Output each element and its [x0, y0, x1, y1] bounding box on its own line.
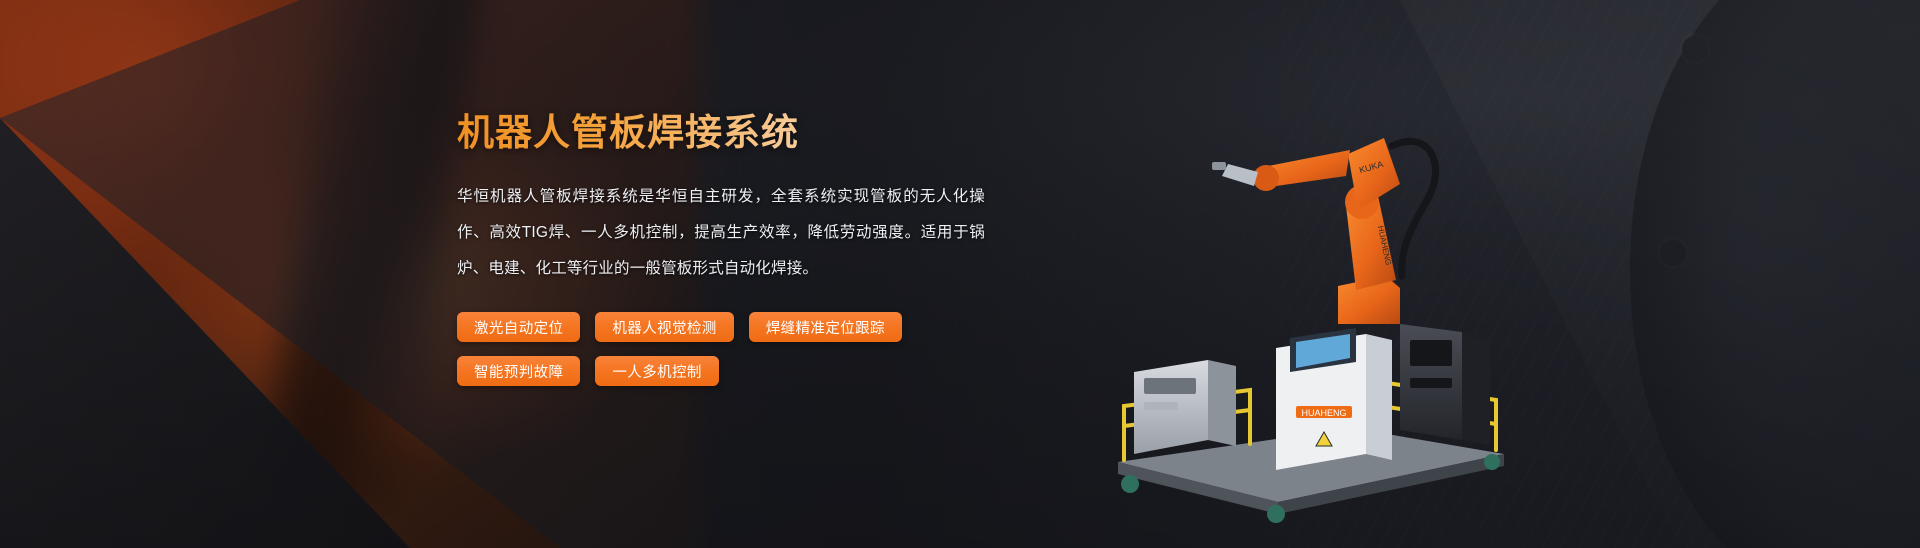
console-brand-text: HUAHENG: [1301, 408, 1346, 418]
feature-tag[interactable]: 一人多机控制: [595, 356, 718, 386]
feature-tag[interactable]: 焊缝精准定位跟踪: [749, 312, 902, 342]
banner-content: 机器人管板焊接系统 华恒机器人管板焊接系统是华恒自主研发，全套系统实现管板的无人…: [457, 112, 1017, 386]
feature-tag[interactable]: 激光自动定位: [457, 312, 580, 342]
feature-tag[interactable]: 智能预判故障: [457, 356, 580, 386]
feature-tag-list: 激光自动定位 机器人视觉检测 焊缝精准定位跟踪 智能预判故障 一人多机控制: [457, 312, 977, 386]
welding-power-source: [1134, 360, 1236, 454]
operator-console: HUAHENG: [1276, 328, 1392, 470]
feature-tag[interactable]: 机器人视觉检测: [595, 312, 733, 342]
banner-description: 华恒机器人管板焊接系统是华恒自主研发，全套系统实现管板的无人化操作、高效TIG焊…: [457, 179, 985, 287]
page-title: 机器人管板焊接系统: [457, 112, 1017, 153]
welding-robot-illustration: HUAHENG: [1100, 110, 1520, 530]
control-cabinet-rear: [1400, 324, 1490, 446]
kuka-robot-arm: KUKA HUAHENG: [1212, 138, 1436, 324]
hero-banner: HUAHENG: [0, 0, 1920, 548]
